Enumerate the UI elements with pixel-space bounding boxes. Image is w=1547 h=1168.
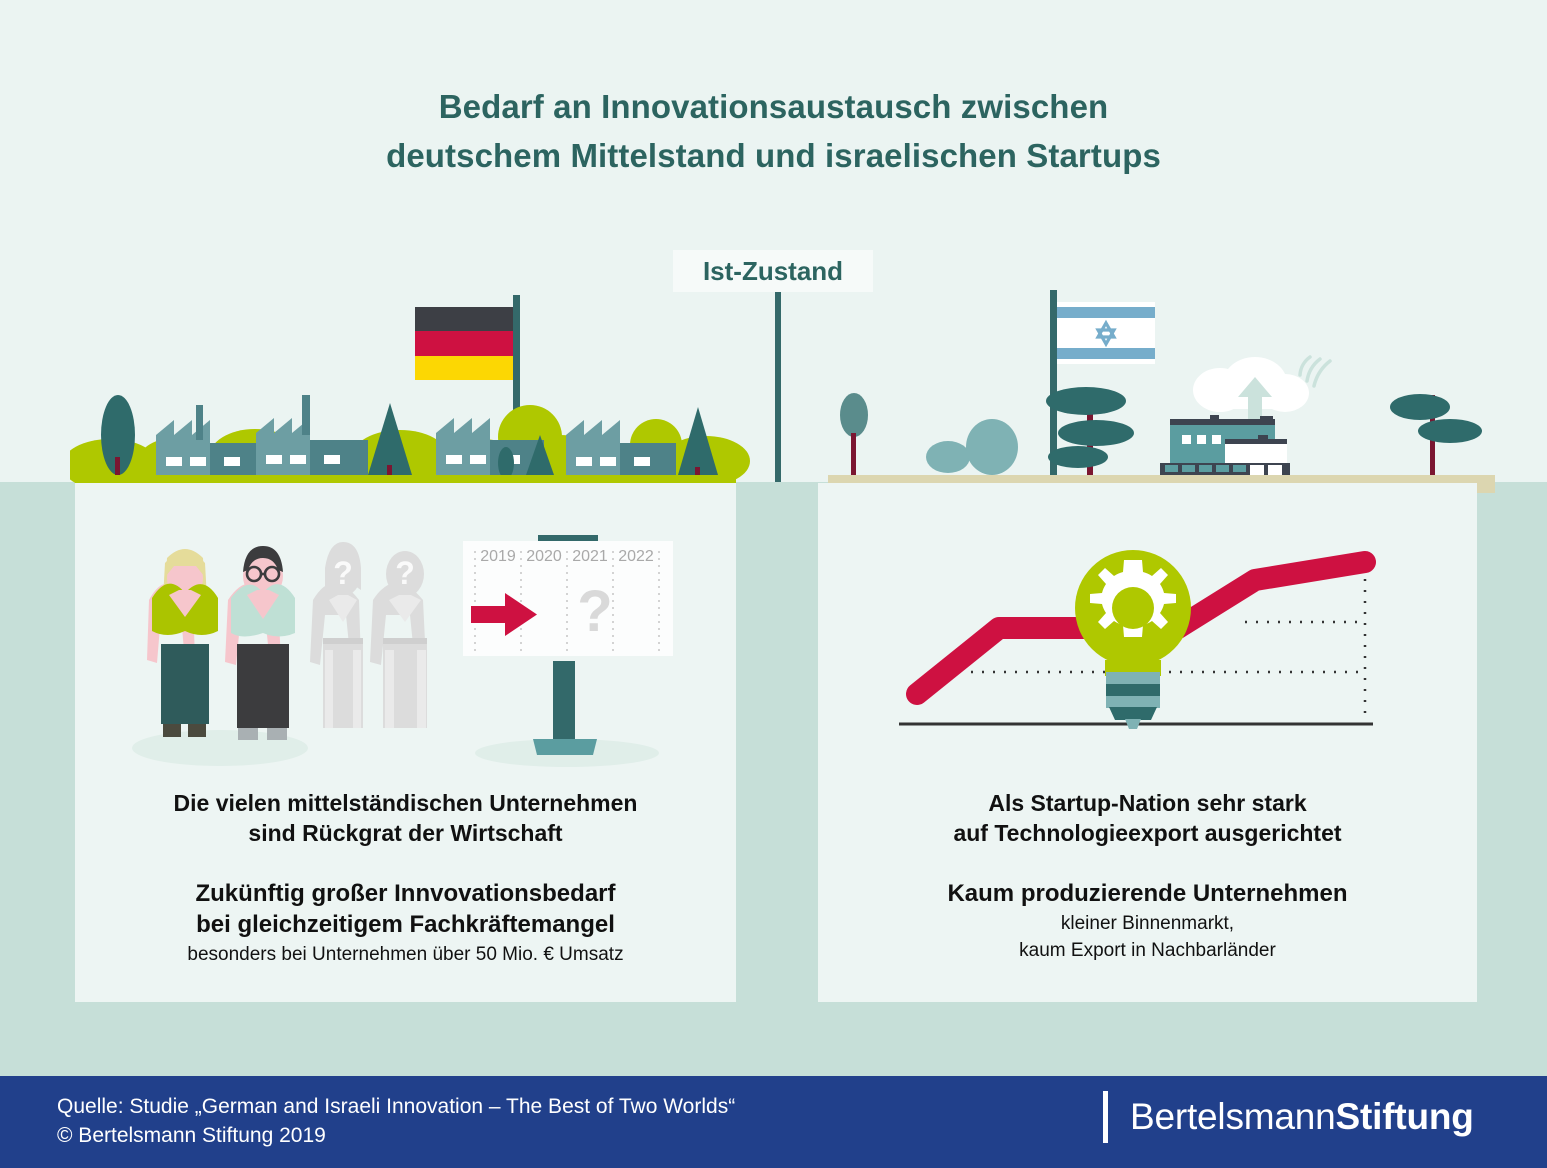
right-caption-note-line-1: kleiner Binnenmarkt, (818, 910, 1477, 937)
people-illustration: ? ? (125, 538, 455, 768)
left-caption-line-2: sind Rückgrat der Wirtschaft (75, 818, 736, 848)
figure-employee-man-glasses (225, 546, 295, 740)
question-mark-glyph: ? (333, 555, 353, 591)
sign-base (533, 739, 597, 755)
panel-germany: ? ? (75, 483, 736, 1002)
sign-post (553, 661, 575, 739)
right-caption-block-1: Als Startup-Nation sehr stark auf Techno… (818, 788, 1477, 848)
right-caption-line-3: Kaum produzierende Unternehmen (818, 878, 1477, 909)
logo-text-light: Bertelsmann (1130, 1096, 1336, 1137)
title-line-1: Bedarf an Innovationsaustausch zwischen (0, 82, 1547, 131)
right-caption-note-line-2: kaum Export in Nachbarländer (818, 937, 1477, 964)
tree-layered (1046, 387, 1134, 475)
bush-group (926, 419, 1018, 475)
tech-building (1160, 415, 1290, 477)
israeli-flag-pole (1050, 290, 1057, 475)
right-caption-line-2: auf Technologieexport ausgerichtet (818, 818, 1477, 848)
right-caption-block-2: Kaum produzierende Unternehmen (818, 878, 1477, 909)
left-caption-block-2: Zukünftig großer Innvovationsbedarf bei … (75, 878, 736, 940)
year-label-2020: 2020 (526, 548, 562, 565)
tree-shrub (840, 393, 868, 475)
year-label-2019: 2019 (480, 548, 516, 565)
source-attribution: Quelle: Studie „German and Israeli Innov… (57, 1092, 735, 1150)
israeli-landscape-scene (820, 285, 1500, 485)
gear-icon (1090, 560, 1176, 637)
left-caption-line-3: Zukünftig großer Innvovationsbedarf (75, 878, 736, 909)
logo-text-bold: Stiftung (1336, 1096, 1474, 1137)
title-line-2: deutschem Mittelstand und israelischen S… (0, 131, 1547, 180)
left-caption-note-line: besonders bei Unternehmen über 50 Mio. €… (75, 941, 736, 968)
page-title: Bedarf an Innovationsaustausch zwischen … (0, 82, 1547, 180)
factory-building (156, 420, 266, 475)
question-mark-glyph: ? (395, 555, 415, 591)
figure-employee-woman (147, 549, 218, 737)
center-divider (775, 292, 781, 482)
german-flag-icon (415, 307, 513, 380)
source-line-2: © Bertelsmann Stiftung 2019 (57, 1121, 735, 1150)
left-caption-line-1: Die vielen mittelständischen Unternehmen (75, 788, 736, 818)
logo-wordmark: BertelsmannStiftung (1130, 1096, 1474, 1138)
year-label-2021: 2021 (572, 548, 608, 565)
infographic-canvas: Bedarf an Innovationsaustausch zwischen … (0, 0, 1547, 1168)
panel-israel: Als Startup-Nation sehr stark auf Techno… (818, 483, 1477, 1002)
sign-question-mark: ? (577, 579, 612, 644)
tree-layered (1390, 394, 1482, 475)
growth-chart-with-lightbulb (893, 538, 1393, 758)
right-caption-line-1: Als Startup-Nation sehr stark (818, 788, 1477, 818)
status-badge-label: Ist-Zustand (703, 256, 843, 287)
factory-chimney (196, 405, 203, 440)
year-label-2022: 2022 (618, 548, 654, 565)
bertelsmann-stiftung-logo: BertelsmannStiftung (1103, 1091, 1474, 1143)
german-landscape-scene (70, 285, 750, 485)
source-line-1: Quelle: Studie „German and Israeli Innov… (57, 1092, 735, 1121)
year-forecast-sign: 2019 2020 2021 2022 ? (455, 531, 695, 771)
right-caption-note: kleiner Binnenmarkt, kaum Export in Nach… (818, 910, 1477, 964)
factory-building (256, 395, 368, 475)
wifi-icon (1300, 357, 1330, 386)
left-caption-block-1: Die vielen mittelständischen Unternehmen… (75, 788, 736, 848)
left-caption-note: besonders bei Unternehmen über 50 Mio. €… (75, 941, 736, 968)
israeli-flag-icon (1057, 302, 1155, 364)
logo-divider-bar (1103, 1091, 1108, 1143)
left-caption-line-4: bei gleichzeitigem Fachkräftemangel (75, 909, 736, 940)
